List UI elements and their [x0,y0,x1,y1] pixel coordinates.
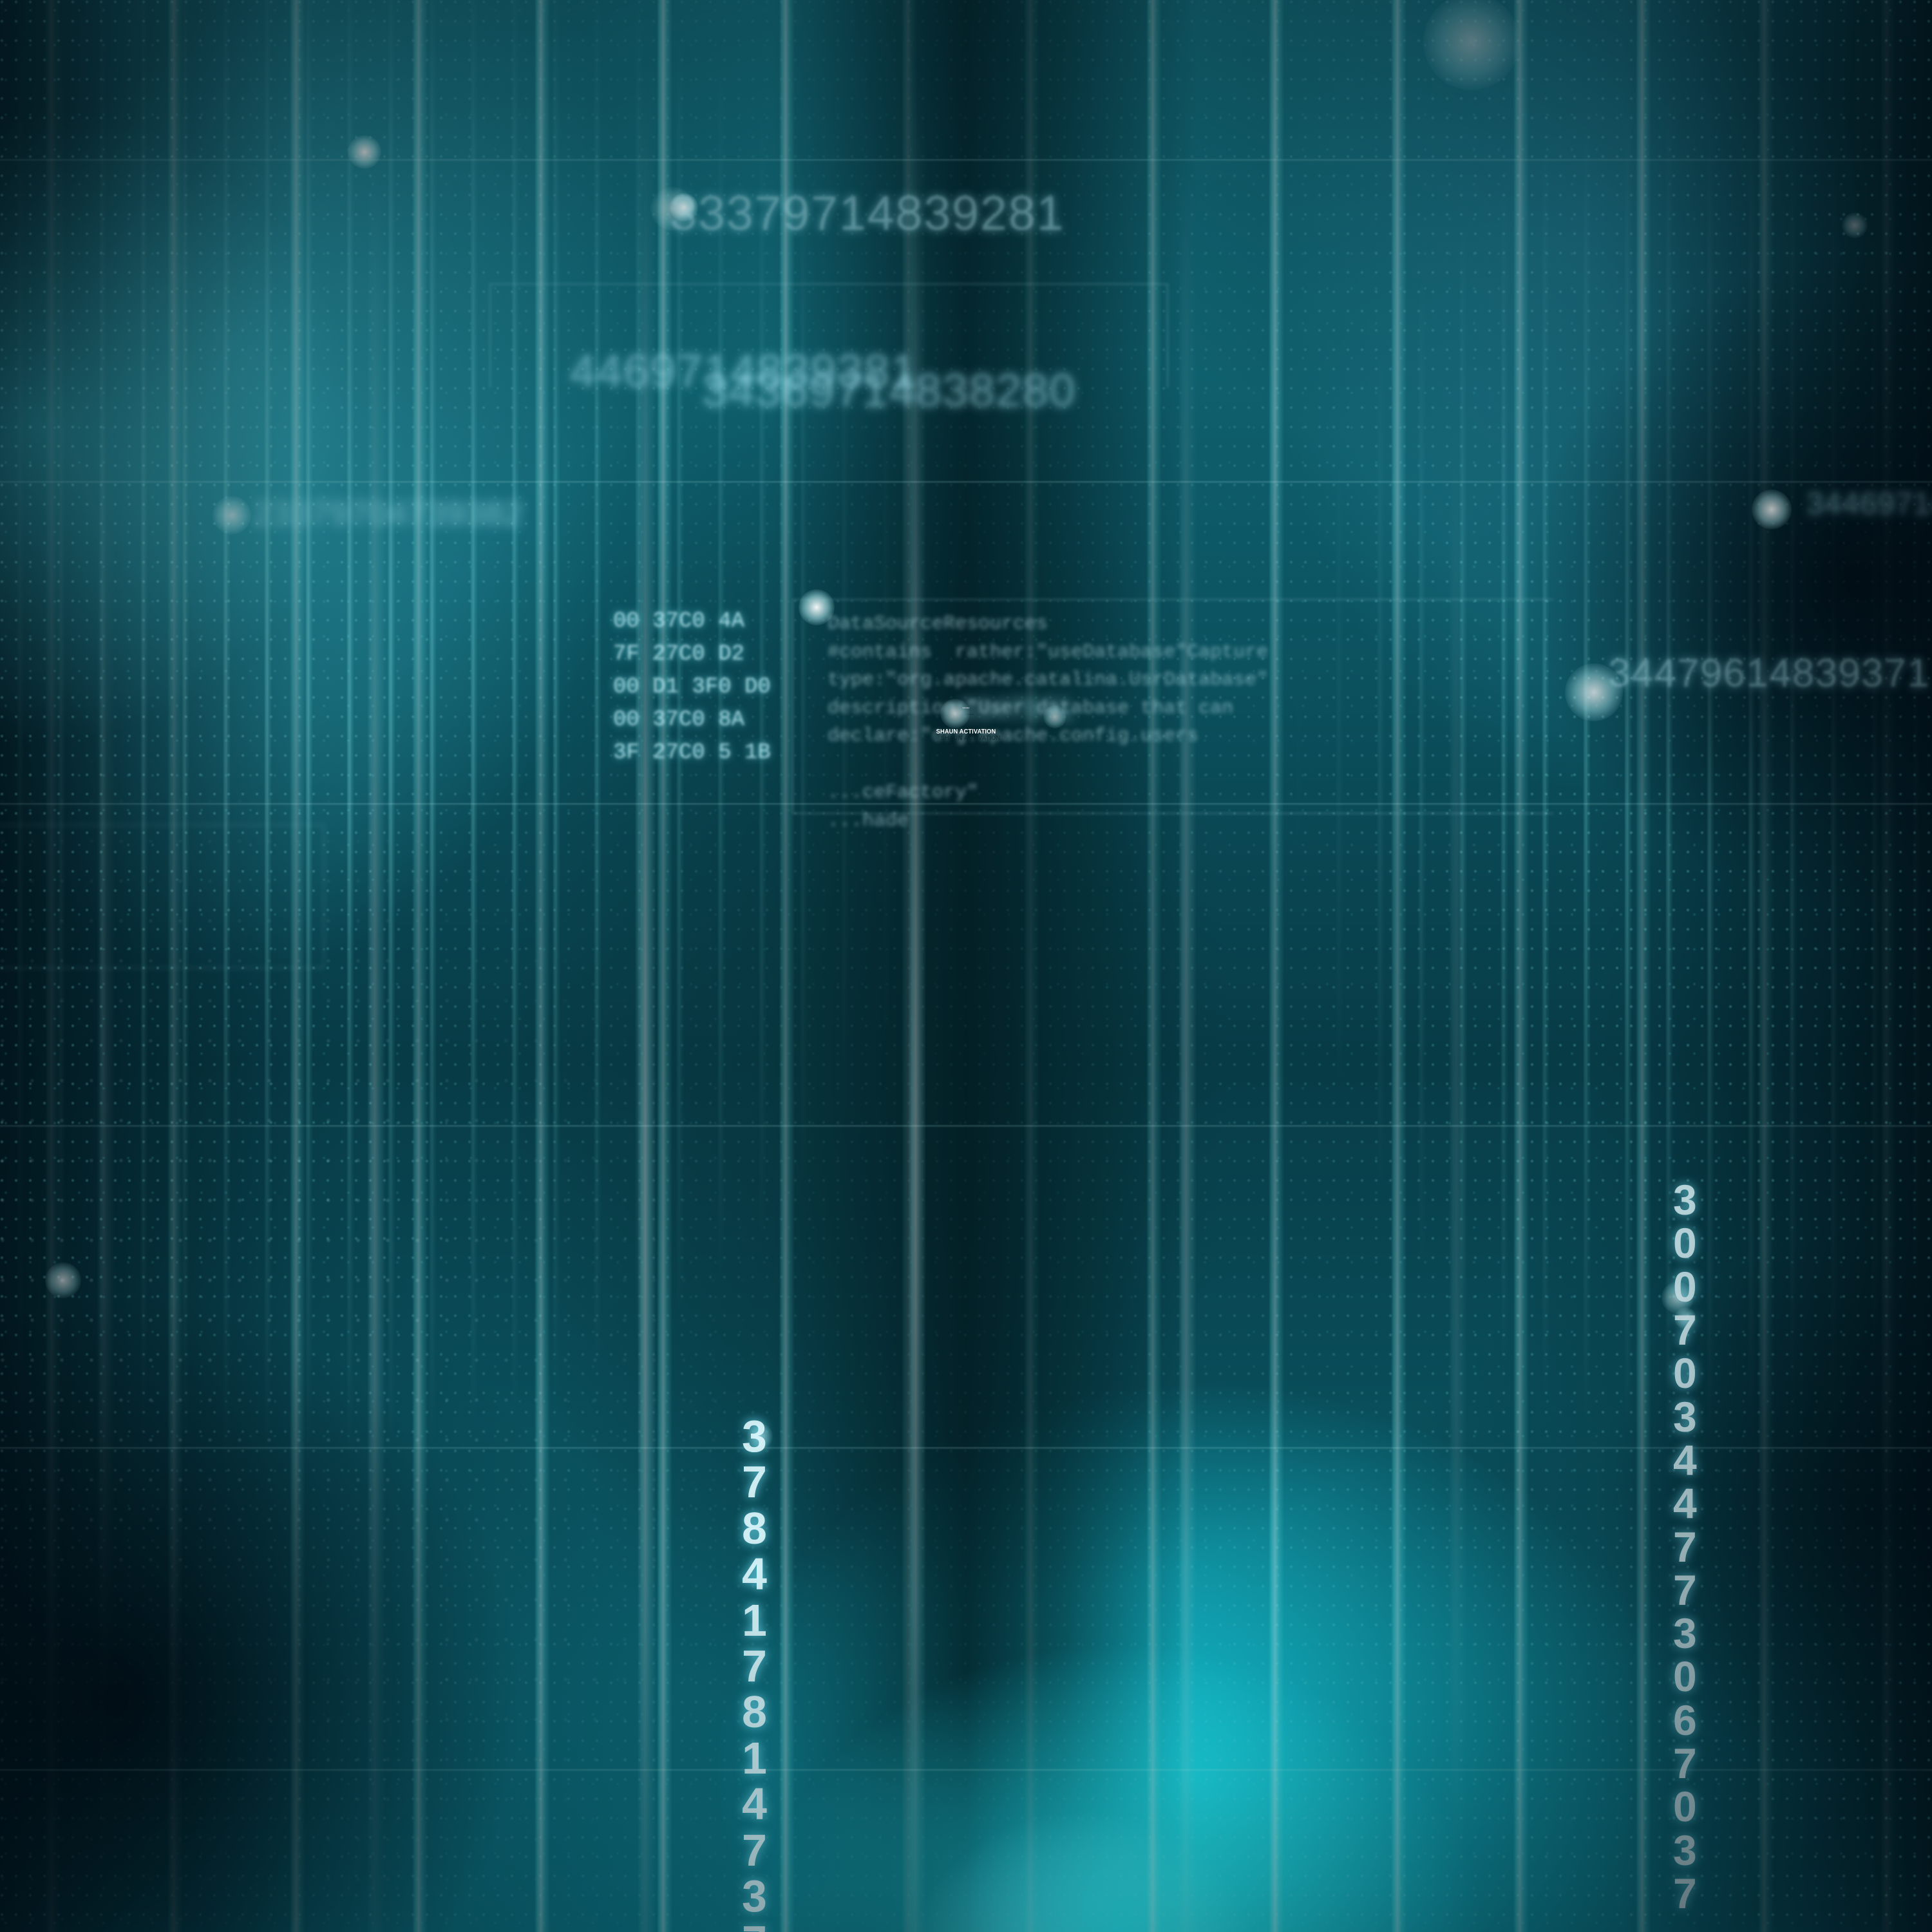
edge-vignette [0,0,1932,1932]
album-cover: 33379714839281 4469714839381 34369714838… [0,0,1932,1932]
